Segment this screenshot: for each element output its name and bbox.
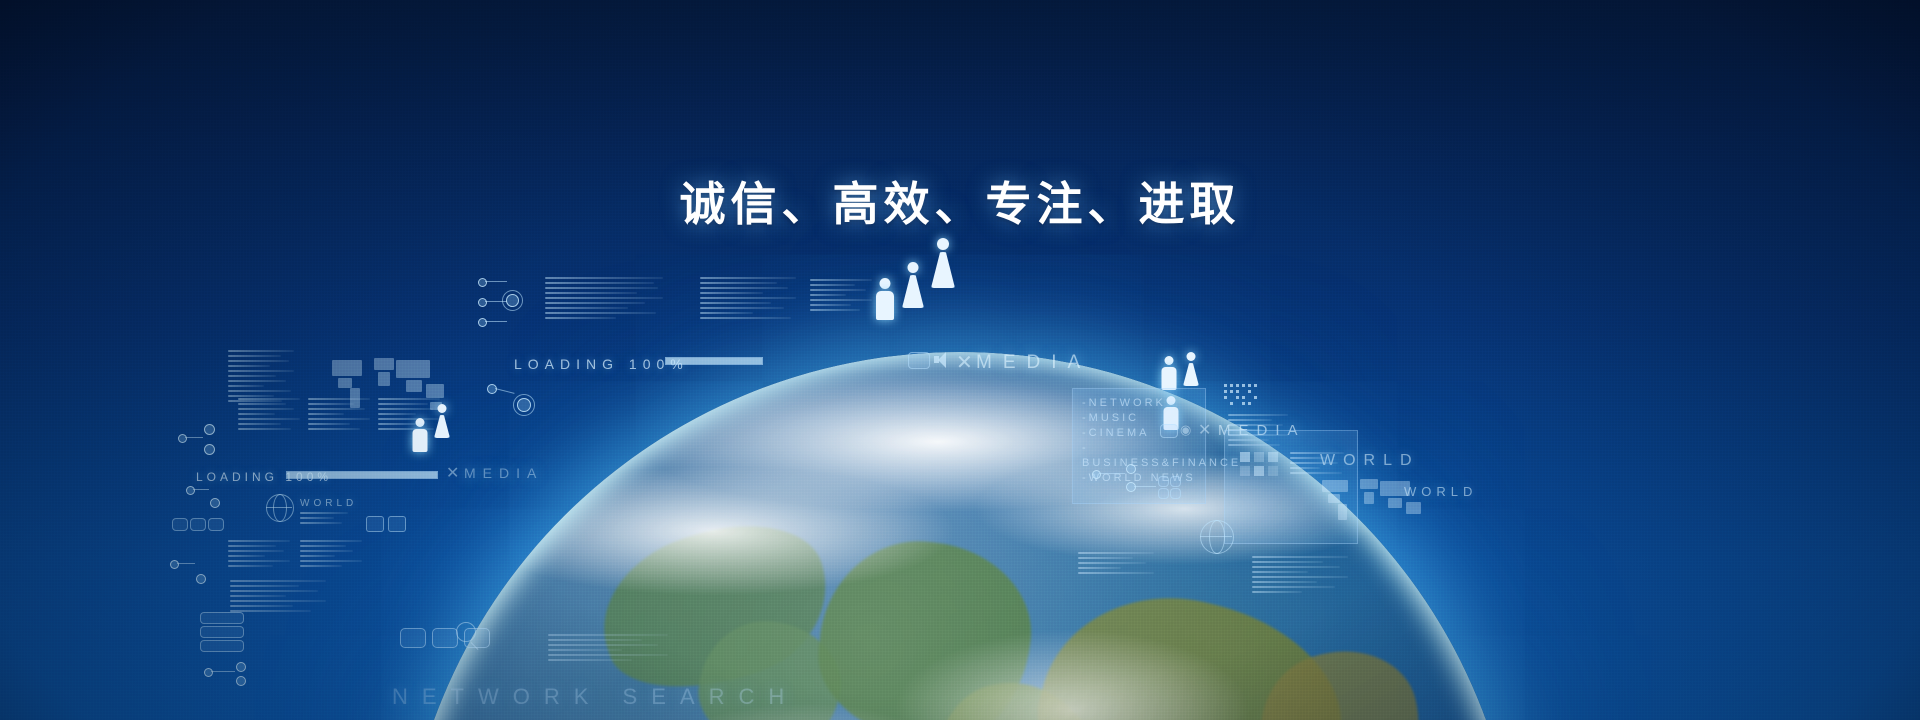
data-text-block — [308, 398, 370, 433]
data-text-block — [378, 398, 440, 433]
media-label-top: MEDIA — [976, 352, 1091, 374]
chip-icon — [190, 518, 206, 531]
media-label-left: MEDIA — [464, 465, 543, 481]
menu-item: -MUSIC — [1082, 411, 1202, 426]
search-icon — [366, 516, 384, 532]
chat-bubble-icon — [400, 628, 426, 648]
person-icon — [874, 278, 896, 320]
menu-item: -CINEMA — [1082, 426, 1202, 441]
node-diagram-small — [186, 486, 226, 512]
data-text-block — [1252, 556, 1348, 596]
x-icon: ✕ — [446, 463, 459, 483]
person-icon — [1160, 356, 1178, 390]
node-diagram-far-left — [178, 424, 224, 454]
hero-banner: 诚信、高效、专注、进取 LOADING 100% — [0, 0, 1920, 720]
world-label-small: WORLD — [300, 498, 357, 509]
node-diagram-left — [478, 276, 538, 328]
node-diagram-bottom — [204, 662, 264, 684]
chip-icon — [208, 518, 224, 531]
loading-progress-bar-left — [286, 471, 438, 479]
screen-icon — [1160, 424, 1178, 438]
search-icon — [388, 516, 406, 532]
bar-icon — [200, 626, 244, 638]
node-diagram-bottom-left — [170, 560, 210, 590]
menu-item: -WORLD NEWS — [1082, 471, 1202, 486]
world-label-far-right: WORLD — [1404, 484, 1477, 499]
hud-panel-menu: -NETWORK -MUSIC -CINEMA -BUSINESS&FINANC… — [1082, 396, 1202, 486]
person-icon — [901, 262, 925, 308]
chat-bubble-icon — [464, 628, 490, 648]
bar-icon — [200, 612, 244, 624]
data-text-block — [700, 277, 796, 322]
page-title: 诚信、高效、专注、进取 — [0, 168, 1920, 234]
data-text-block — [300, 512, 348, 527]
data-text-block — [228, 540, 290, 570]
loading-progress-bar-top — [665, 357, 763, 365]
data-text-block — [238, 398, 300, 433]
screen-icon — [908, 352, 930, 369]
data-text-block — [228, 350, 294, 405]
data-text-block — [548, 634, 668, 664]
data-text-block — [1078, 552, 1154, 577]
data-text-block — [300, 540, 362, 570]
person-icon — [1182, 352, 1200, 386]
data-text-block — [810, 279, 872, 314]
world-label-right: WORLD — [1320, 452, 1420, 470]
chat-bubble-icon — [432, 628, 458, 648]
menu-item: -BUSINESS&FINANCE — [1082, 441, 1202, 471]
network-search-label: NETWORK SEARCH — [392, 684, 798, 710]
person-icon — [411, 418, 429, 452]
node-diagram-mid — [487, 384, 535, 420]
chip-icon — [172, 518, 188, 531]
person-icon — [433, 404, 451, 438]
person-icon — [930, 238, 956, 288]
data-text-block — [230, 580, 326, 615]
globe-wireframe-icon — [266, 494, 294, 522]
loading-label-top: LOADING 100% — [514, 356, 689, 372]
bar-icon — [200, 640, 244, 652]
data-text-block — [545, 277, 663, 322]
menu-item: -NETWORK — [1082, 396, 1202, 411]
